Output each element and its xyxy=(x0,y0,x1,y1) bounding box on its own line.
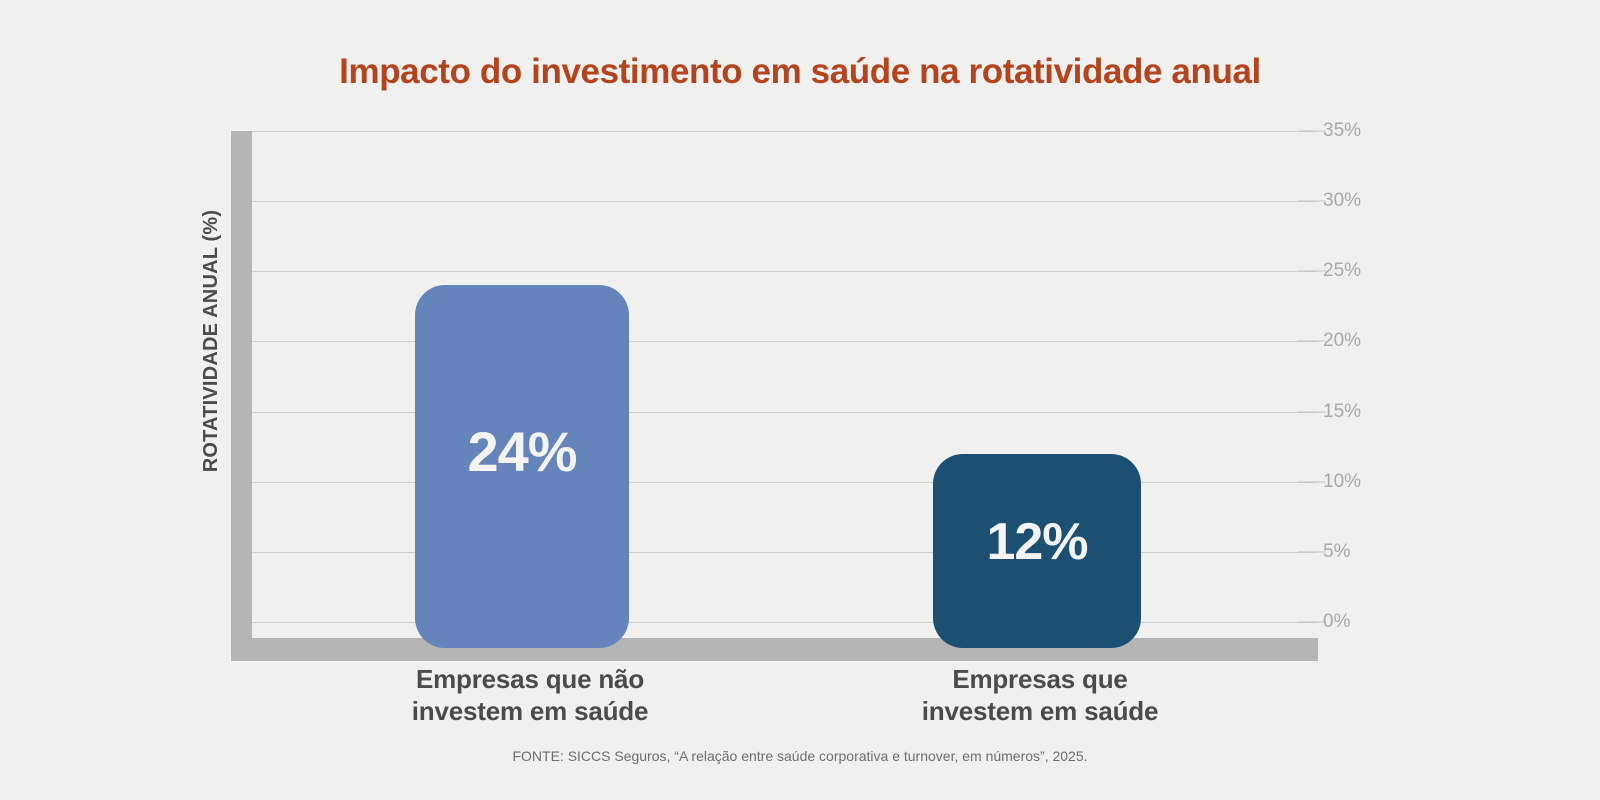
source-note: FONTE: SICCS Seguros, “A relação entre s… xyxy=(0,748,1600,764)
category-label-1-line-0: Empresas que xyxy=(820,664,1260,696)
y-axis-title: ROTATIVIDADE ANUAL (%) xyxy=(197,131,225,551)
y-axis-tick-label-0%: 0% xyxy=(1323,611,1350,633)
gridline-10% xyxy=(252,482,1318,483)
y-axis-tick-dash-15% xyxy=(1298,411,1326,412)
gridline-30% xyxy=(252,201,1318,202)
y-axis-tick-label-30%: 30% xyxy=(1323,190,1361,212)
y-axis-tick-dash-35% xyxy=(1298,131,1326,132)
y-axis-tick-dash-25% xyxy=(1298,271,1326,272)
gridline-35% xyxy=(252,131,1318,132)
category-label-1-line-1: investem em saúde xyxy=(820,696,1260,728)
y-axis-tick-label-5%: 5% xyxy=(1323,541,1350,563)
y-axis-line xyxy=(231,131,252,648)
bar-0: 24% xyxy=(415,285,629,648)
y-axis-tick-label-10%: 10% xyxy=(1323,471,1361,493)
y-axis-tick-label-25%: 25% xyxy=(1323,260,1361,282)
x-axis-baseline xyxy=(231,638,1318,661)
bar-value-label-1: 12% xyxy=(986,512,1087,572)
plot-area: ROTATIVIDADE ANUAL (%) 0%5%10%15%20%25%3… xyxy=(231,131,1318,648)
gridline-20% xyxy=(252,341,1318,342)
y-axis-tick-label-20%: 20% xyxy=(1323,330,1361,352)
gridlines-group xyxy=(252,131,1318,622)
category-label-0: Empresas que não investem em saúde xyxy=(300,664,760,727)
category-label-0-line-0: Empresas que não xyxy=(300,664,760,696)
y-axis-tick-label-15%: 15% xyxy=(1323,401,1361,423)
y-axis-tick-dash-0% xyxy=(1298,622,1326,623)
chart-canvas: Impacto do investimento em saúde na rota… xyxy=(0,0,1600,800)
gridline-15% xyxy=(252,412,1318,413)
y-axis-tick-dash-10% xyxy=(1298,481,1326,482)
bar-value-label-0: 24% xyxy=(467,419,576,484)
category-label-0-line-1: investem em saúde xyxy=(300,696,760,728)
chart-title: Impacto do investimento em saúde na rota… xyxy=(0,52,1600,92)
gridline-25% xyxy=(252,271,1318,272)
bar-1: 12% xyxy=(933,454,1141,648)
gridline-5% xyxy=(252,552,1318,553)
category-label-1: Empresas que investem em saúde xyxy=(820,664,1260,727)
y-axis-tick-label-35%: 35% xyxy=(1323,120,1361,142)
gridline-0% xyxy=(252,622,1318,623)
y-axis-tick-dash-30% xyxy=(1298,201,1326,202)
y-axis-tick-dash-20% xyxy=(1298,341,1326,342)
y-axis-tick-dash-5% xyxy=(1298,551,1326,552)
